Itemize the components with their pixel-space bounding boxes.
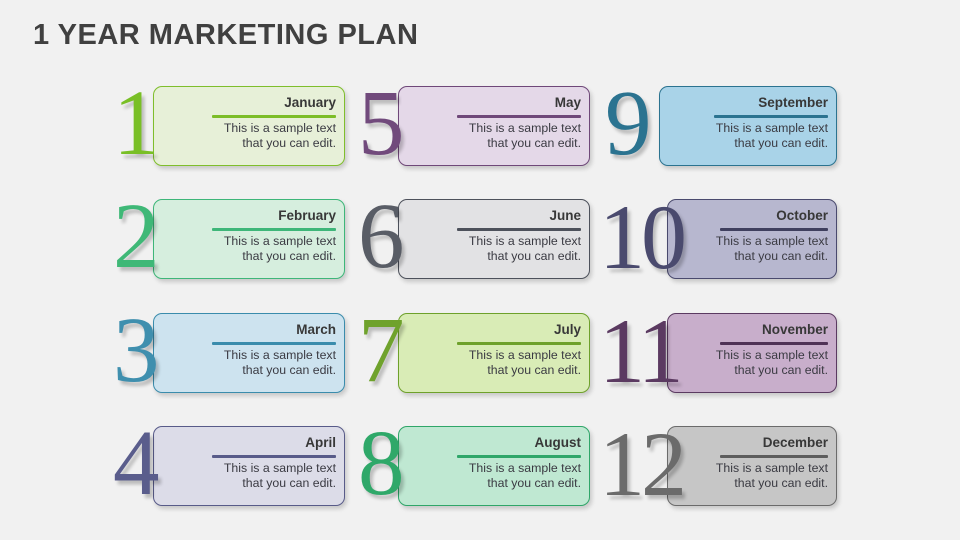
month-card[interactable]: January This is a sample text that you c… (153, 86, 345, 166)
month-label: January (164, 93, 336, 112)
month-card[interactable]: October This is a sample text that you c… (667, 199, 837, 279)
month-card[interactable]: May This is a sample text that you can e… (398, 86, 590, 166)
month-numeral: 3 (113, 305, 158, 397)
month-divider (720, 342, 828, 345)
month-body-text: This is a sample text that you can edit. (164, 348, 336, 379)
month-divider (212, 342, 336, 345)
month-card[interactable]: March This is a sample text that you can… (153, 313, 345, 393)
month-divider (212, 228, 336, 231)
month-numeral: 4 (113, 418, 158, 510)
month-numeral: 5 (358, 78, 403, 170)
month-numeral: 2 (113, 191, 158, 283)
month-divider (720, 228, 828, 231)
month-card[interactable]: June This is a sample text that you can … (398, 199, 590, 279)
month-card[interactable]: September This is a sample text that you… (659, 86, 837, 166)
month-label: September (670, 93, 828, 112)
month-body-text: This is a sample text that you can edit. (678, 348, 828, 379)
month-column-3: September This is a sample text that you… (597, 80, 897, 530)
month-item-october[interactable]: October This is a sample text that you c… (597, 193, 897, 288)
page-title: 1 YEAR MARKETING PLAN (33, 19, 418, 52)
slide-canvas: 1 YEAR MARKETING PLAN January This is a … (0, 0, 960, 540)
month-label: February (164, 206, 336, 225)
month-body-text: This is a sample text that you can edit. (678, 461, 828, 492)
month-card[interactable]: July This is a sample text that you can … (398, 313, 590, 393)
month-body-text: This is a sample text that you can edit. (164, 121, 336, 152)
month-card[interactable]: December This is a sample text that you … (667, 426, 837, 506)
month-label: March (164, 320, 336, 339)
month-body-text: This is a sample text that you can edit. (164, 461, 336, 492)
month-card[interactable]: April This is a sample text that you can… (153, 426, 345, 506)
month-label: August (409, 433, 581, 452)
month-numeral: 9 (605, 78, 650, 170)
month-item-september[interactable]: September This is a sample text that you… (597, 80, 897, 175)
month-body-text: This is a sample text that you can edit. (409, 348, 581, 379)
month-body-text: This is a sample text that you can edit. (409, 461, 581, 492)
month-divider (212, 455, 336, 458)
month-numeral: 8 (358, 418, 403, 510)
month-card[interactable]: November This is a sample text that you … (667, 313, 837, 393)
month-divider (457, 342, 581, 345)
month-divider (457, 115, 581, 118)
month-label: November (678, 320, 828, 339)
month-divider (212, 115, 336, 118)
month-label: July (409, 320, 581, 339)
month-item-november[interactable]: November This is a sample text that you … (597, 307, 897, 402)
month-body-text: This is a sample text that you can edit. (670, 121, 828, 152)
month-body-text: This is a sample text that you can edit. (164, 234, 336, 265)
month-label: June (409, 206, 581, 225)
month-body-text: This is a sample text that you can edit. (678, 234, 828, 265)
month-label: May (409, 93, 581, 112)
month-numeral: 6 (358, 191, 403, 283)
month-body-text: This is a sample text that you can edit. (409, 121, 581, 152)
month-card[interactable]: February This is a sample text that you … (153, 199, 345, 279)
month-divider (457, 455, 581, 458)
month-divider (714, 115, 828, 118)
month-numeral: 1 (113, 78, 158, 170)
month-divider (457, 228, 581, 231)
month-label: April (164, 433, 336, 452)
month-card[interactable]: August This is a sample text that you ca… (398, 426, 590, 506)
month-label: October (678, 206, 828, 225)
month-item-december[interactable]: December This is a sample text that you … (597, 420, 897, 515)
month-numeral: 7 (358, 305, 403, 397)
month-body-text: This is a sample text that you can edit. (409, 234, 581, 265)
month-label: December (678, 433, 828, 452)
month-divider (720, 455, 828, 458)
